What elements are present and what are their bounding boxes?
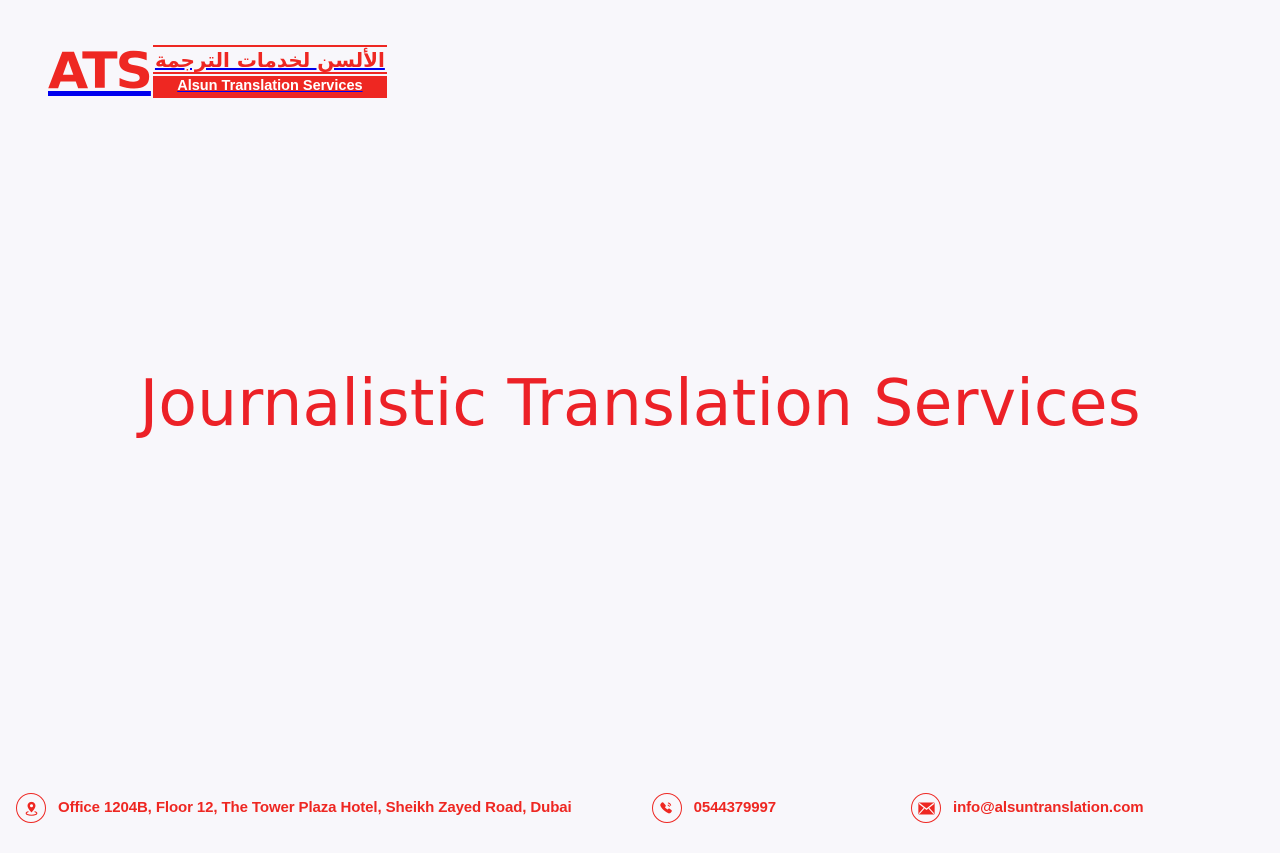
page-title: Journalistic Translation Services <box>139 366 1140 443</box>
logo-link[interactable]: ATS الألسن لخدمات الترجمة Alsun Translat… <box>48 44 387 100</box>
location-pin-icon <box>16 793 46 823</box>
logo-arabic-block: الألسن لخدمات الترجمة Alsun Translation … <box>153 44 387 100</box>
footer-contact-bar: Office 1204B, Floor 12, The Tower Plaza … <box>0 763 1280 853</box>
contact-address[interactable]: Office 1204B, Floor 12, The Tower Plaza … <box>16 793 572 823</box>
contact-phone[interactable]: 0544379997 <box>652 793 776 823</box>
logo-tagline-band: Alsun Translation Services <box>153 76 387 98</box>
logo-arabic-text: الألسن لخدمات الترجمة <box>155 48 385 72</box>
main-content: Journalistic Translation Services <box>0 0 1280 853</box>
phone-icon <box>652 793 682 823</box>
envelope-icon <box>911 793 941 823</box>
logo-ats-wordmark: ATS <box>48 44 151 100</box>
logo-arabic-frame: الألسن لخدمات الترجمة <box>153 45 387 74</box>
page-root: ATS الألسن لخدمات الترجمة Alsun Translat… <box>0 0 1280 853</box>
contact-phone-text: 0544379997 <box>694 798 776 818</box>
site-header: ATS الألسن لخدمات الترجمة Alsun Translat… <box>48 44 387 100</box>
contact-email-text: info@alsuntranslation.com <box>953 798 1143 818</box>
contact-address-text: Office 1204B, Floor 12, The Tower Plaza … <box>58 798 572 818</box>
contact-email[interactable]: info@alsuntranslation.com <box>911 793 1143 823</box>
